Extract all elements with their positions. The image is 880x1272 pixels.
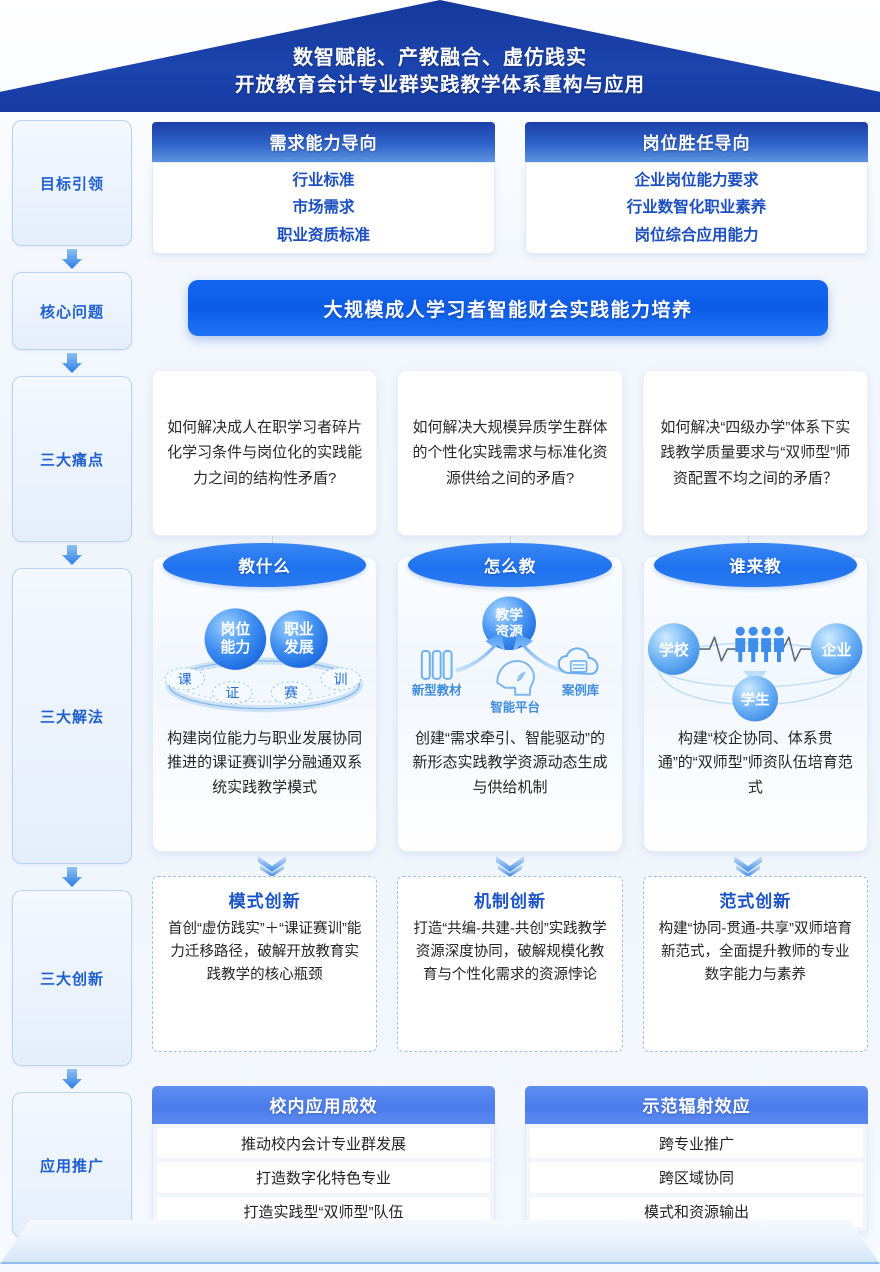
rail-arrow-5 bbox=[12, 1066, 132, 1092]
rail-arrow-1 bbox=[12, 246, 132, 272]
goal-box-title: 岗位胜任导向 bbox=[525, 122, 868, 162]
solution-title-label: 教什么 bbox=[238, 553, 291, 577]
innovation-body: 打造“共编-共建-共创”实践教学资源深度协同，破解规模化教育与个性化需求的资源悖… bbox=[410, 918, 609, 988]
innovation-card-mechanism: 机制创新 打造“共编-共建-共创”实践教学资源深度协同，破解规模化教育与个性化需… bbox=[397, 876, 622, 1052]
connector-chevron-3 bbox=[734, 856, 762, 878]
svg-text:发展: 发展 bbox=[283, 638, 314, 656]
goal-item: 市场需求 bbox=[292, 196, 354, 219]
apply-box-body: 跨专业推广 跨区域协同 模式和资源输出 bbox=[525, 1124, 868, 1232]
solution-desc: 构建岗位能力与职业发展协同推进的课证赛训学分融通双系统实践教学模式 bbox=[153, 727, 376, 851]
stage-rail: 目标引领 核心问题 三大痛点 三大解法 三大创新 bbox=[12, 120, 132, 1238]
goal-item: 行业数智化职业素养 bbox=[627, 196, 767, 219]
svg-text:能力: 能力 bbox=[221, 638, 251, 656]
svg-text:智能平台: 智能平台 bbox=[490, 700, 541, 715]
how-to-teach-illustration: 教学 资源 新型教材 智能平台 bbox=[398, 587, 621, 727]
goal-section: 需求能力导向 行业标准 市场需求 职业资质标准 岗位胜任导向 企业岗位能力要求 … bbox=[152, 122, 868, 254]
apply-box-radiation: 示范辐射效应 跨专业推广 跨区域协同 模式和资源输出 bbox=[525, 1086, 868, 1232]
rail-arrow-2 bbox=[12, 350, 132, 376]
rail-item-solutions[interactable]: 三大解法 bbox=[12, 568, 132, 864]
who-teaches-illustration: 学校 企业 学生 bbox=[644, 587, 867, 727]
svg-text:学校: 学校 bbox=[659, 641, 689, 659]
svg-text:证: 证 bbox=[225, 685, 239, 701]
solution-card-title: 怎么教 bbox=[408, 543, 611, 587]
pain-text: 如何解决“四级办学”体系下实践教学质量要求与“双师型”师资配置不均之间的矛盾？ bbox=[658, 415, 853, 491]
goal-item: 职业资质标准 bbox=[277, 224, 370, 247]
svg-text:训: 训 bbox=[334, 671, 348, 687]
goal-item: 行业标准 bbox=[292, 169, 354, 192]
svg-text:赛: 赛 bbox=[284, 685, 298, 701]
rail-arrow-4 bbox=[12, 864, 132, 890]
apply-item: 打造数字化特色专业 bbox=[157, 1162, 490, 1192]
svg-text:学生: 学生 bbox=[740, 691, 769, 709]
svg-text:课: 课 bbox=[178, 671, 192, 687]
roof-title-line1: 数智赋能、产教融合、虚仿践实 bbox=[0, 44, 880, 72]
solution-card-title: 教什么 bbox=[163, 543, 366, 587]
innovation-body: 首创“虚仿践实”＋“课证赛训”能力迁移路径，破解开放教育实践教学的核心瓶颈 bbox=[165, 918, 364, 988]
solution-desc: 构建“校企协同、体系贯通”的“双师型”师资队伍培育范式 bbox=[644, 727, 867, 851]
what-to-teach-illustration: 岗位 能力 职业 发展 课 证 赛 训 bbox=[153, 587, 376, 727]
rail-item-label: 三大痛点 bbox=[40, 449, 104, 470]
rail-item-application[interactable]: 应用推广 bbox=[12, 1092, 132, 1238]
rail-item-innovations[interactable]: 三大创新 bbox=[12, 890, 132, 1066]
apply-box-body: 推动校内会计专业群发展 打造数字化特色专业 打造实践型“双师型”队伍 bbox=[152, 1124, 495, 1232]
pain-text: 如何解决大规模异质学生群体的个性化实践需求与标准化资源供给之间的矛盾? bbox=[412, 415, 607, 491]
pain-card: 如何解决“四级办学”体系下实践教学质量要求与“双师型”师资配置不均之间的矛盾？ bbox=[643, 370, 868, 536]
rail-item-goal[interactable]: 目标引领 bbox=[12, 120, 132, 246]
goal-box-body: 行业标准 市场需求 职业资质标准 bbox=[152, 162, 495, 254]
solution-card-title: 谁来教 bbox=[654, 543, 857, 587]
base-platform bbox=[0, 1220, 880, 1264]
solution-card-how: 怎么教 教学 资源 bbox=[397, 556, 622, 852]
svg-text:教学: 教学 bbox=[496, 606, 524, 622]
ai-head-icon bbox=[498, 661, 535, 695]
roof-title-line2: 开放教育会计专业群实践教学体系重构与应用 bbox=[0, 72, 880, 100]
books-icon bbox=[422, 651, 452, 679]
solutions-section: 教什么 岗位 能力 bbox=[152, 556, 868, 852]
rail-item-label: 应用推广 bbox=[40, 1155, 104, 1176]
goal-box-title: 需求能力导向 bbox=[152, 122, 495, 162]
apply-item: 跨区域协同 bbox=[530, 1162, 863, 1192]
cloud-database-icon bbox=[559, 648, 598, 673]
apply-item: 推动校内会计专业群发展 bbox=[157, 1128, 490, 1158]
solution-desc: 创建“需求牵引、智能驱动”的新形态实践教学资源动态生成与供给机制 bbox=[398, 727, 621, 851]
rail-item-core-problem[interactable]: 核心问题 bbox=[12, 272, 132, 350]
rail-item-pain-points[interactable]: 三大痛点 bbox=[12, 376, 132, 542]
rail-arrow-3 bbox=[12, 542, 132, 568]
connector-chevron-1 bbox=[258, 856, 286, 878]
apply-box-internal: 校内应用成效 推动校内会计专业群发展 打造数字化特色专业 打造实践型“双师型”队… bbox=[152, 1086, 495, 1232]
solution-art-who-teaches: 学校 企业 学生 bbox=[644, 587, 867, 727]
svg-text:企业: 企业 bbox=[820, 641, 851, 659]
rail-item-label: 三大创新 bbox=[40, 968, 104, 989]
arrow-down-icon bbox=[60, 865, 84, 889]
goal-box-demand: 需求能力导向 行业标准 市场需求 职业资质标准 bbox=[152, 122, 495, 254]
innovation-title: 范式创新 bbox=[719, 887, 791, 912]
base-platform-slab bbox=[0, 1220, 880, 1264]
roof-title: 数智赋能、产教融合、虚仿践实 开放教育会计专业群实践教学体系重构与应用 bbox=[0, 44, 880, 100]
innovations-section: 模式创新 首创“虚仿践实”＋“课证赛训”能力迁移路径，破解开放教育实践教学的核心… bbox=[152, 876, 868, 1052]
connector-chevron-2 bbox=[496, 856, 524, 878]
application-section: 校内应用成效 推动校内会计专业群发展 打造数字化特色专业 打造实践型“双师型”队… bbox=[152, 1086, 868, 1232]
core-problem-banner: 大规模成人学习者智能财会实践能力培养 bbox=[188, 280, 828, 336]
rail-item-label: 目标引领 bbox=[40, 173, 104, 194]
solution-title-label: 怎么教 bbox=[484, 553, 537, 577]
pain-points-section: 如何解决成人在职学习者碎片化学习条件与岗位化的实践能力之间的结构性矛盾? 如何解… bbox=[152, 370, 868, 536]
apply-box-title: 示范辐射效应 bbox=[525, 1086, 868, 1124]
solution-art-what-to-teach: 岗位 能力 职业 发展 课 证 赛 训 bbox=[153, 587, 376, 727]
apply-item: 跨专业推广 bbox=[530, 1128, 863, 1158]
roof-banner: 数智赋能、产教融合、虚仿践实 开放教育会计专业群实践教学体系重构与应用 bbox=[0, 0, 880, 112]
rail-item-label: 核心问题 bbox=[40, 301, 104, 322]
innovation-body: 构建“协同-贯通-共享”双师培育新范式，全面提升教师的专业数字能力与素养 bbox=[656, 918, 855, 988]
goal-box-post: 岗位胜任导向 企业岗位能力要求 行业数智化职业素养 岗位综合应用能力 bbox=[525, 122, 868, 254]
arrow-down-icon bbox=[60, 1067, 84, 1091]
arrow-down-icon bbox=[60, 543, 84, 567]
apply-box-title: 校内应用成效 bbox=[152, 1086, 495, 1124]
pain-card: 如何解决大规模异质学生群体的个性化实践需求与标准化资源供给之间的矛盾? bbox=[397, 370, 622, 536]
rail-item-label: 三大解法 bbox=[40, 706, 104, 727]
pain-card: 如何解决成人在职学习者碎片化学习条件与岗位化的实践能力之间的结构性矛盾? bbox=[152, 370, 377, 536]
arrow-down-icon bbox=[60, 247, 84, 271]
solution-art-how-to-teach: 教学 资源 新型教材 智能平台 bbox=[398, 587, 621, 727]
goal-item: 岗位综合应用能力 bbox=[634, 224, 758, 247]
innovation-card-paradigm: 范式创新 构建“协同-贯通-共享”双师培育新范式，全面提升教师的专业数字能力与素… bbox=[643, 876, 868, 1052]
solution-card-what: 教什么 岗位 能力 bbox=[152, 556, 377, 852]
svg-text:职业: 职业 bbox=[284, 621, 314, 638]
innovation-card-model: 模式创新 首创“虚仿践实”＋“课证赛训”能力迁移路径，破解开放教育实践教学的核心… bbox=[152, 876, 377, 1052]
core-problem-label: 大规模成人学习者智能财会实践能力培养 bbox=[323, 295, 692, 322]
svg-text:新型教材: 新型教材 bbox=[412, 683, 462, 698]
goal-item: 企业岗位能力要求 bbox=[634, 169, 758, 192]
svg-text:案例库: 案例库 bbox=[561, 683, 600, 698]
solution-card-who: 谁来教 学校 bbox=[643, 556, 868, 852]
innovation-title: 机制创新 bbox=[474, 887, 546, 912]
innovation-title: 模式创新 bbox=[229, 887, 301, 912]
svg-text:岗位: 岗位 bbox=[221, 620, 251, 638]
arrow-down-icon bbox=[60, 351, 84, 375]
pain-text: 如何解决成人在职学习者碎片化学习条件与岗位化的实践能力之间的结构性矛盾? bbox=[167, 415, 362, 491]
goal-box-body: 企业岗位能力要求 行业数智化职业素养 岗位综合应用能力 bbox=[525, 162, 868, 254]
solution-title-label: 谁来教 bbox=[729, 553, 782, 577]
